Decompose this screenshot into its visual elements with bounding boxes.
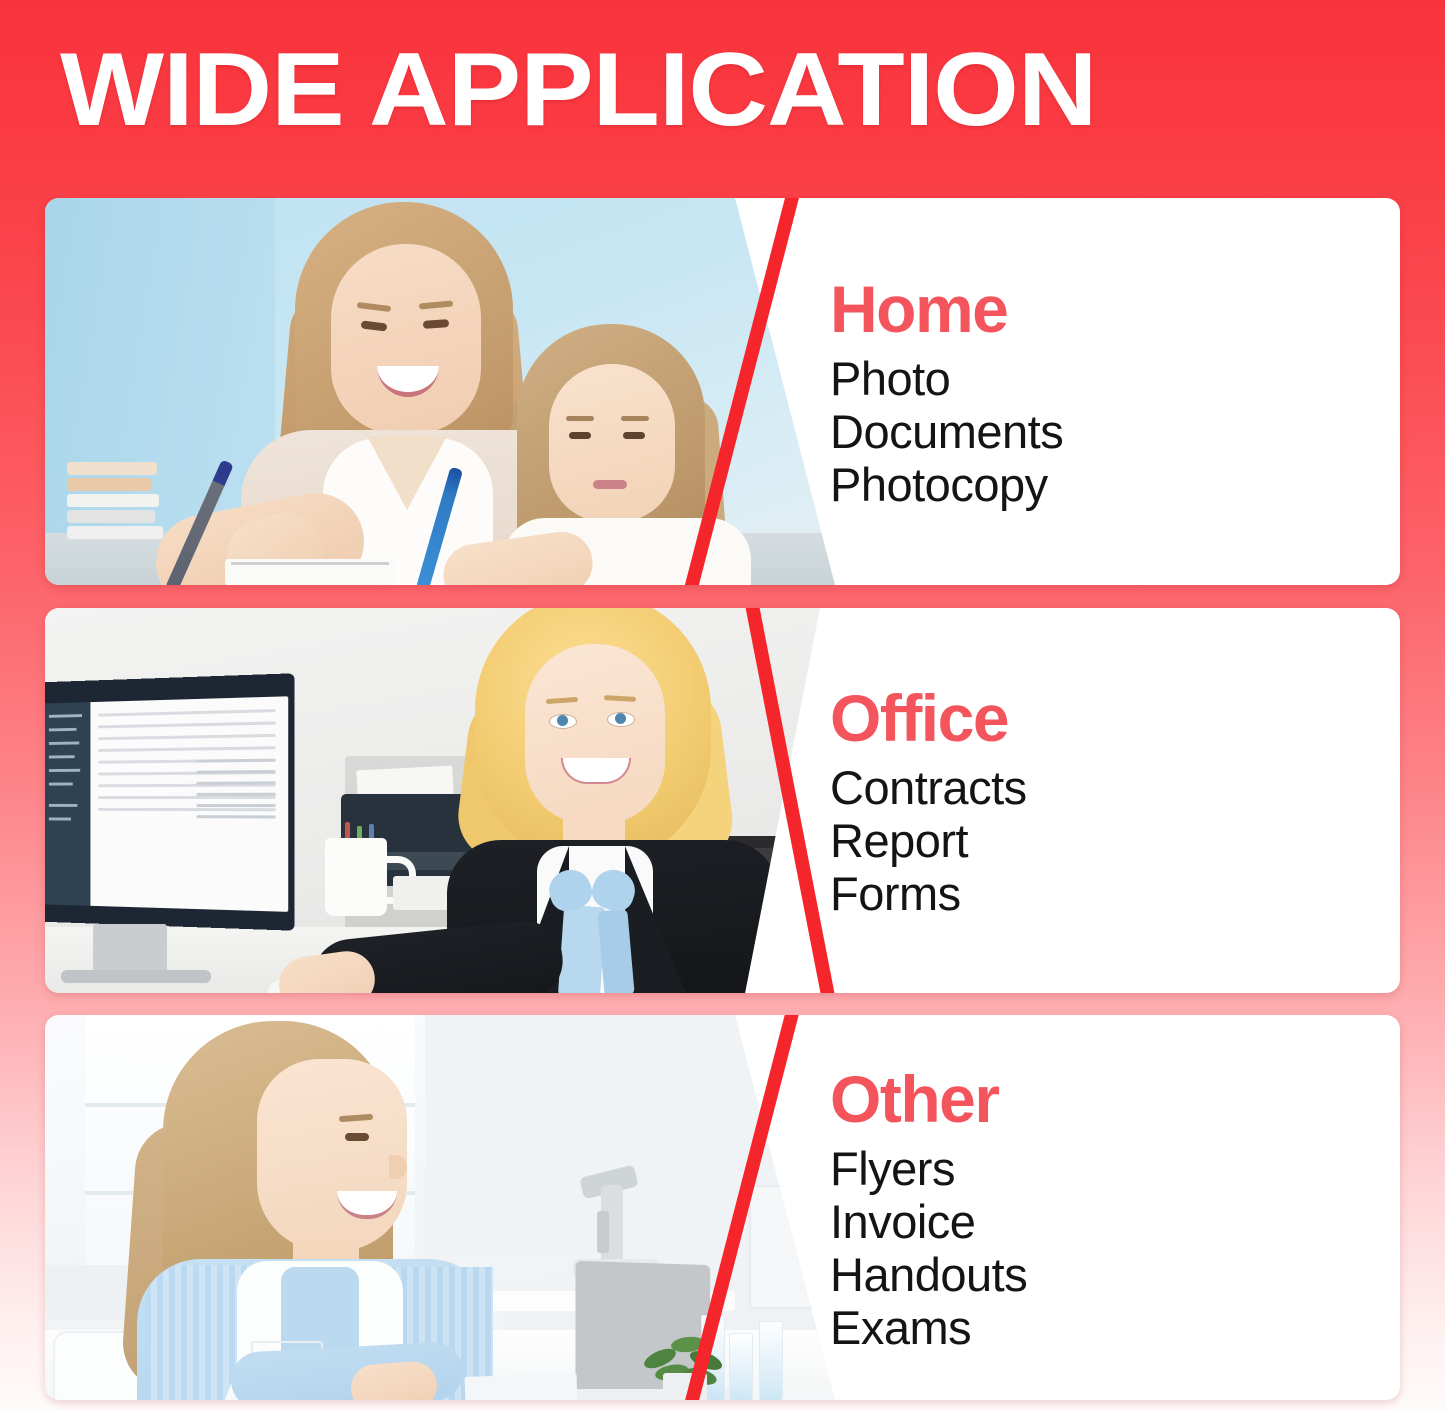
application-card-other[interactable]: Other Flyers Invoice Handouts Exams <box>45 1015 1400 1400</box>
card-item-list: Contracts Report Forms <box>830 761 1400 920</box>
list-item: Photo <box>830 352 1400 405</box>
list-item: Flyers <box>830 1142 1400 1195</box>
list-item: Photocopy <box>830 458 1400 511</box>
card-text-home: Home Photo Documents Photocopy <box>810 198 1400 585</box>
list-item: Contracts <box>830 761 1400 814</box>
card-text-office: Office Contracts Report Forms <box>810 608 1400 993</box>
card-item-list: Photo Documents Photocopy <box>830 352 1400 511</box>
list-item: Report <box>830 814 1400 867</box>
list-item: Invoice <box>830 1195 1400 1248</box>
list-item: Forms <box>830 867 1400 920</box>
card-text-other: Other Flyers Invoice Handouts Exams <box>810 1015 1400 1400</box>
application-card-office[interactable]: Office Contracts Report Forms <box>45 608 1400 993</box>
card-heading: Other <box>830 1062 1400 1136</box>
header-banner: WIDE APPLICATION <box>0 0 1445 178</box>
list-item: Documents <box>830 405 1400 458</box>
card-heading: Office <box>830 681 1400 755</box>
poster-root: WIDE APPLICATION <box>0 0 1445 1411</box>
card-photo-home <box>45 198 845 585</box>
list-item: Handouts <box>830 1248 1400 1301</box>
card-photo-other <box>45 1015 845 1400</box>
card-photo-office <box>45 608 845 993</box>
page-title: WIDE APPLICATION <box>60 38 1096 142</box>
card-item-list: Flyers Invoice Handouts Exams <box>830 1142 1400 1354</box>
list-item: Exams <box>830 1301 1400 1354</box>
application-card-home[interactable]: Home Photo Documents Photocopy <box>45 198 1400 585</box>
card-heading: Home <box>830 272 1400 346</box>
